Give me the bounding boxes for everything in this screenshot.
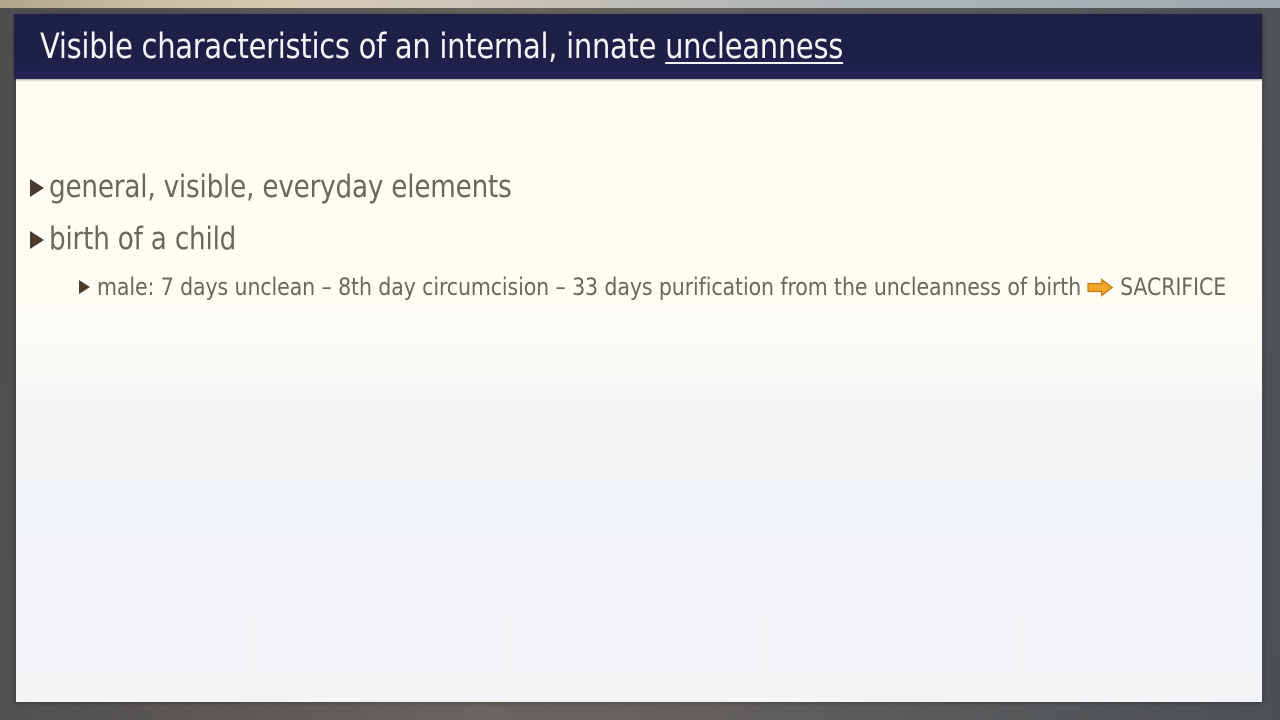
bullet-item-birth-of-a-child: birth of a child [28, 221, 1246, 257]
triangle-bullet-icon [78, 278, 94, 294]
triangle-bullet-icon [28, 228, 47, 247]
desktop-backdrop: Visible characteristics of an internal, … [0, 0, 1280, 720]
slide-title-prefix: Visible characteristics of an internal, … [40, 27, 665, 67]
bullet-item-male-purification: male: 7 days unclean – 8th day circumcis… [78, 273, 1246, 301]
slide-title-underlined-word: uncleanness [665, 27, 843, 67]
bullet-label-before-arrow: male: 7 days unclean – 8th day circumcis… [97, 273, 1081, 301]
triangle-bullet-icon [28, 176, 47, 195]
slide-title-bar: Visible characteristics of an internal, … [14, 14, 1262, 79]
bullet-label: male: 7 days unclean – 8th day circumcis… [97, 273, 1226, 301]
bullet-item-general-elements: general, visible, everyday elements [28, 169, 1246, 205]
slide-body: general, visible, everyday elements birt… [0, 79, 1246, 301]
bullet-label: birth of a child [49, 221, 236, 257]
bullet-label: general, visible, everyday elements [49, 169, 512, 205]
bullet-label-after-arrow: SACRIFICE [1120, 273, 1226, 301]
slide-title: Visible characteristics of an internal, … [40, 27, 843, 67]
right-arrow-icon [1087, 278, 1114, 297]
